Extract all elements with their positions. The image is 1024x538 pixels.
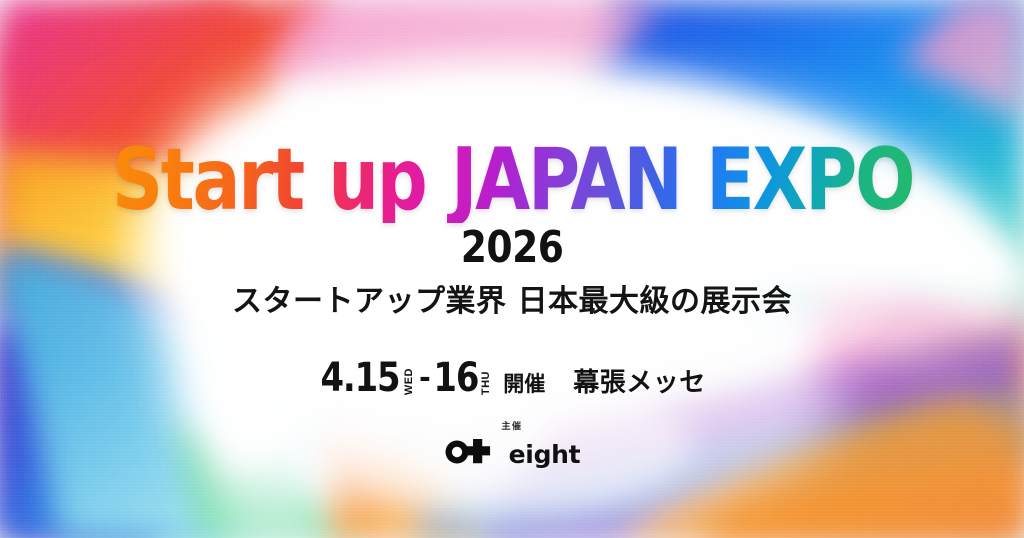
- banner-canvas: Start up JAPAN EXPO 2026 スタートアップ業界 日本最大級…: [0, 0, 1024, 538]
- background-artwork: [0, 0, 1024, 538]
